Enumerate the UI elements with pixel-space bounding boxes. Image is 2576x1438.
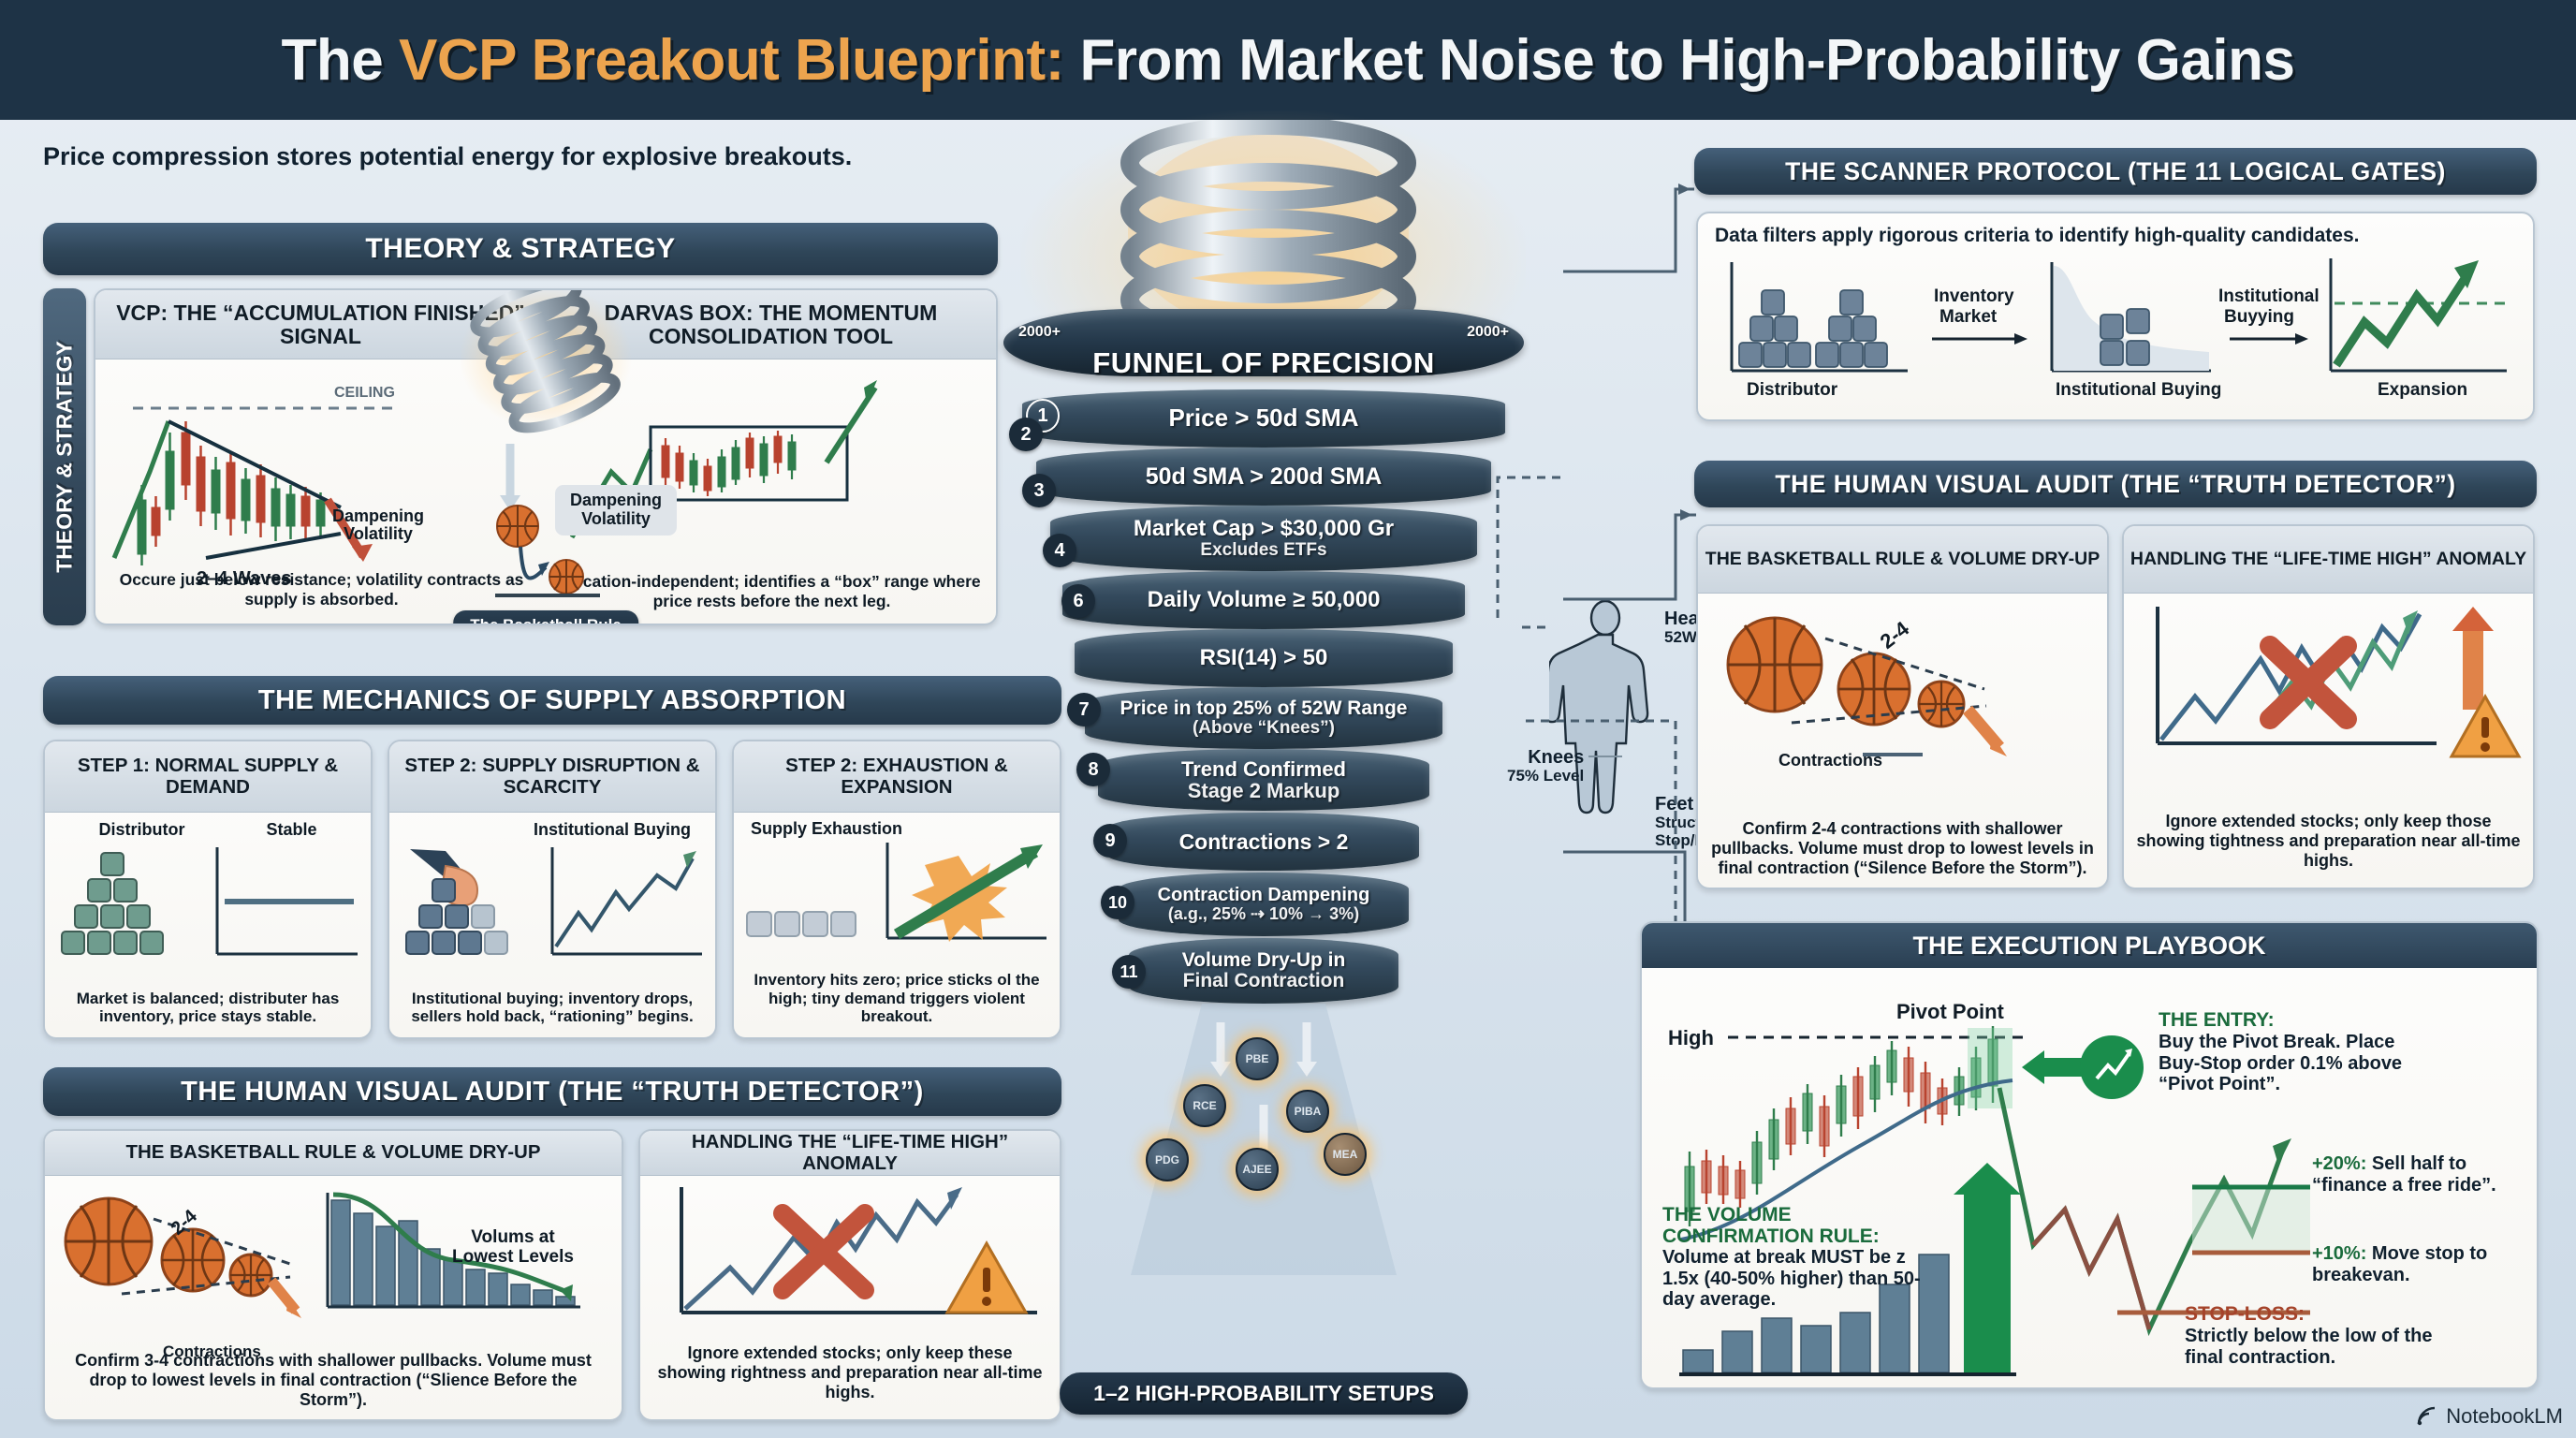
basketball-rule-pill: The Basketball Rule xyxy=(453,610,638,625)
funnel-gate-7-text: Price in top 25% of 52W Range xyxy=(1120,698,1408,719)
funnel-gate-7-number: 7 xyxy=(1067,693,1101,726)
section-bar-mechanics: THE MECHANICS OF SUPPLY ABSORPTION xyxy=(43,676,1061,725)
support-line xyxy=(206,534,341,558)
stop-loss-body: Strictly below the low of the final cont… xyxy=(2185,1326,2456,1368)
hva-right-card-anomaly: HANDLING THE “LIFE-TIME HIGH” ANOMALY Ig… xyxy=(2122,524,2535,889)
contraction-count-label-right: 2-4 xyxy=(1876,616,1914,653)
hva-left-card-basketball: THE BASKETBALL RULE & VOLUME DRY-UP 2-4 xyxy=(43,1129,623,1421)
funnel-pellet-3: PIBA xyxy=(1286,1090,1329,1133)
hva-right-row: THE BASKETBALL RULE & VOLUME DRY-UP 2-4 … xyxy=(1696,524,2535,889)
funnel-gate-3-text: Market Cap > $30,000 Gr xyxy=(1134,517,1394,540)
notebooklm-watermark: NotebookLM xyxy=(2415,1404,2563,1429)
vcp-subpanel: VCP: THE “ACCUMULATION FINISHED” SIGNAL … xyxy=(95,290,546,624)
funnel-gate-7-sub: (Above “Knees”) xyxy=(1193,719,1335,738)
funnel-gate-10-number: 10 xyxy=(1101,886,1134,919)
funnel-gate-8-text: Trend Confirmed xyxy=(1181,758,1346,780)
pre-box-leg xyxy=(572,449,651,537)
entry-body: Buy the Pivot Break. Place Buy-Stop orde… xyxy=(2159,1032,2439,1095)
contractions-label-right: Contractions xyxy=(1778,751,1882,770)
funnel-gate-9-text: Contractions > 2 xyxy=(1179,830,1349,853)
hva-right-card-1-title: THE BASKETBALL RULE & VOLUME DRY-UP xyxy=(1698,526,2107,594)
mechanics-card-1-caption: Market is balanced; distributer has inve… xyxy=(56,990,359,1026)
inventory-blocks xyxy=(62,853,163,954)
funnel-pellet-5: AJEE xyxy=(1236,1148,1279,1191)
scanner-arrow-1-label-a: Inventory xyxy=(1934,286,2014,306)
funnel-pellet-1: PBE xyxy=(1236,1037,1279,1080)
target-10-callout: +10%: Move stop to breakevan. xyxy=(2312,1243,2533,1285)
connector-to-hva xyxy=(1563,515,1696,599)
scanner-arrow-2-label-a: Institutional xyxy=(2218,286,2320,306)
volume-surge-head xyxy=(1954,1163,2021,1195)
section-bar-theory-strategy: THEORY & STRATEGY xyxy=(43,223,998,275)
funnel-gate-6-text: RSI(14) > 50 xyxy=(1200,646,1328,669)
scanner-blocks-1 xyxy=(1739,290,1887,367)
page-title: The VCP Breakout Blueprint: From Market … xyxy=(282,27,2295,94)
theory-strategy-side-label: THEORY & STRATEGY xyxy=(52,341,78,573)
hva-left-row: THE BASKETBALL RULE & VOLUME DRY-UP 2-4 xyxy=(43,1129,1061,1421)
funnel-gate-3-number: 3 xyxy=(1022,474,1056,507)
title-accent: VCP Breakout Blueprint: xyxy=(399,28,1064,93)
scanner-protocol-card: Data filters apply rigorous criteria to … xyxy=(1696,212,2535,421)
breakdown-arrow-head xyxy=(352,544,373,562)
stop-loss-callout: STOP-LOSS: Strictly below the low of the… xyxy=(2185,1303,2456,1368)
funnel-rim-label-right: 2000+ xyxy=(1467,324,1509,341)
funnel-gate-10-text: Contraction Dampening xyxy=(1158,886,1370,905)
funnel-gate-8-number: 8 xyxy=(1076,753,1110,786)
hva-left-card-1-caption: Confirm 3-4 contractions with shallower … xyxy=(56,1351,610,1410)
funnel-gate-3[interactable]: Market Cap > $30,000 Gr Excludes ETFs xyxy=(1050,506,1477,571)
target-20-callout: +20%: Sell half to “finance a free ride”… xyxy=(2312,1153,2533,1196)
connector-to-scanner xyxy=(1563,189,1694,271)
volumes-at-lowest-levels-label: Volums at Lowest Levels xyxy=(447,1228,578,1268)
human-body-figure xyxy=(1549,599,1661,871)
funnel-gate-4-text: Daily Volume ≥ 50,000 xyxy=(1148,588,1381,611)
mechanics-card-1: STEP 1: NORMAL SUPPLY & DEMAND Distribut… xyxy=(43,740,373,1039)
funnel-gate-10[interactable]: Contraction Dampening (a.g., 25% ⇢ 10% →… xyxy=(1119,873,1409,936)
funnel-title: FUNNEL OF PRECISION xyxy=(964,346,1563,380)
funnel-of-precision: 2000+ 2000+ FUNNEL OF PRECISION Price > … xyxy=(964,120,1563,1438)
execution-high-label: High xyxy=(1668,1026,1714,1049)
mechanics-card-1-title: STEP 1: NORMAL SUPPLY & DEMAND xyxy=(45,741,371,813)
scanner-arrow-1-label-b: Market xyxy=(1939,307,1998,327)
volume-rule-title: THE VOLUME CONFIRMATION RULE: xyxy=(1662,1204,1932,1247)
entry-arrow-head xyxy=(2022,1050,2044,1084)
funnel-gate-11-sub: Final Contraction xyxy=(1183,971,1345,991)
scanner-expansion-line xyxy=(2336,277,2466,365)
mechanics-card-2-caption: Institutional buying; inventory drops, s… xyxy=(401,990,704,1026)
scanner-step-label-1: Distributor xyxy=(1747,380,1838,400)
volume-rule-body: Volume at break MUST be z 1.5x (40-50% h… xyxy=(1662,1247,1932,1311)
warning-exclam-bar-right xyxy=(2481,717,2489,738)
funnel-gate-9-number: 9 xyxy=(1093,824,1127,858)
entry-title: THE ENTRY: xyxy=(2159,1009,2439,1032)
institutional-buying-label: Institutional Buying xyxy=(534,820,691,839)
mechanics-chart-1 xyxy=(49,842,367,960)
scanner-step-label-2: Institutional Buying xyxy=(2056,380,2221,400)
scanner-step-label-3: Expansion xyxy=(2378,380,2467,400)
vcp-subpanel-title: VCP: THE “ACCUMULATION FINISHED” SIGNAL xyxy=(95,290,546,359)
funnel-gate-4-number: 4 xyxy=(1043,534,1076,567)
supply-exhaustion-label: Supply Exhaustion xyxy=(751,820,902,838)
mechanics-chart-2 xyxy=(393,842,711,960)
scanner-arrow-2-label-b: Buyying xyxy=(2224,307,2294,327)
breakout-highlight xyxy=(1968,1028,2012,1108)
funnel-pellet-2: RCE xyxy=(1183,1084,1226,1127)
target-10-key: +10%: xyxy=(2312,1243,2366,1264)
scanner-arrow-1-head xyxy=(2014,333,2027,345)
scanner-arrow-2-head xyxy=(2295,333,2308,345)
execution-pivot-label: Pivot Point xyxy=(1896,1000,2005,1023)
mechanics-card-2: STEP 2: SUPPLY DISRUPTION & SCARCITY Ins… xyxy=(388,740,717,1039)
funnel-pellet-6: MEA xyxy=(1324,1133,1367,1176)
hva-right-card-2-title: HANDLING THE “LIFE-TIME HIGH” ANOMALY xyxy=(2124,526,2533,594)
notebooklm-label: NotebookLM xyxy=(2446,1404,2563,1429)
funnel-gate-8-sub: Stage 2 Markup xyxy=(1188,780,1340,801)
notebooklm-icon xyxy=(2415,1404,2439,1429)
funnel-rim-label-left: 2000+ xyxy=(1018,324,1061,341)
downtrend-line xyxy=(168,421,341,507)
theory-strategy-section: THEORY & STRATEGY VCP: THE “ACCUMULATION… xyxy=(43,288,998,625)
title-part2: From Market Noise to High-Probability Ga… xyxy=(1064,28,2295,93)
volume-rule-callout: THE VOLUME CONFIRMATION RULE: Volume at … xyxy=(1662,1204,1932,1311)
section-bar-hva-left: THE HUMAN VISUAL AUDIT (THE “TRUTH DETEC… xyxy=(43,1067,1061,1116)
funnel-gate-1[interactable]: Price > 50d SMA xyxy=(1022,389,1505,448)
up-arrow-bar xyxy=(2463,629,2483,710)
funnel-gate-11[interactable]: Volume Dry-Up in Final Contraction xyxy=(1129,938,1398,1004)
basketball-chart-right: 2-4 xyxy=(1698,599,2109,758)
funnel-gate-11-number: 11 xyxy=(1112,955,1146,989)
execution-playbook-card: THE EXECUTION PLAYBOOK High Pivot Point xyxy=(1640,921,2539,1389)
funnel-gate-6-number: 6 xyxy=(1061,584,1095,618)
execution-candles xyxy=(1685,1026,1998,1226)
body-silhouette-icon xyxy=(1549,599,1661,871)
funnel-pellet-4: PDG xyxy=(1146,1138,1189,1181)
funnel-gate-1-text: Price > 50d SMA xyxy=(1168,405,1358,432)
theory-strategy-card: VCP: THE “ACCUMULATION FINISHED” SIGNAL … xyxy=(94,288,998,625)
trade-path-arrow-head xyxy=(2273,1138,2291,1165)
body-head xyxy=(1591,601,1619,635)
anomaly-chart-right xyxy=(2128,601,2530,766)
funnel-gate-2[interactable]: 50d SMA > 200d SMA xyxy=(1036,448,1491,506)
high-probability-setups-pill: 1–2 HIGH-PROBABILITY SETUPS xyxy=(1060,1372,1468,1415)
body-label-knees: Knees 75% Level xyxy=(1507,747,1584,785)
connector-arrow-hva xyxy=(1680,509,1692,521)
rising-price-line xyxy=(556,858,693,946)
section-bar-hva-right: THE HUMAN VISUAL AUDIT (THE “TRUTH DETEC… xyxy=(1694,461,2537,507)
ceiling-label: CEILING xyxy=(334,385,395,401)
body-knees-title: Knees xyxy=(1507,747,1584,768)
mechanics-card-2-title: STEP 2: SUPPLY DISRUPTION & SCARCITY xyxy=(389,741,715,813)
target-20-key: +20%: xyxy=(2312,1153,2366,1174)
profit-zone-band xyxy=(2192,1187,2310,1253)
hva-right-card-1-caption: Confirm 2-4 contractions with shallower … xyxy=(1709,819,2096,878)
empty-inventory-blocks xyxy=(747,912,856,936)
darvas-caption: Location-independent; identifies a “box”… xyxy=(559,572,985,610)
warning-exclam-dot-right xyxy=(2481,742,2490,752)
box-candles xyxy=(662,431,796,496)
funnel-gate-2-number: 2 xyxy=(1009,418,1043,451)
up-arrow-head xyxy=(2452,607,2494,631)
hva-right-card-basketball: THE BASKETBALL RULE & VOLUME DRY-UP 2-4 … xyxy=(1696,524,2109,889)
section-bar-scanner-protocol: THE SCANNER PROTOCOL (THE 11 LOGICAL GAT… xyxy=(1694,148,2537,195)
funnel-gate-4[interactable]: Daily Volume ≥ 50,000 xyxy=(1062,571,1465,629)
mechanics-row: STEP 1: NORMAL SUPPLY & DEMAND Distribut… xyxy=(43,740,1061,1039)
candles xyxy=(138,421,325,565)
stable-label: Stable xyxy=(266,820,316,840)
title-part1: The xyxy=(282,28,399,93)
body-torso-limbs xyxy=(1549,635,1647,813)
hva-right-card-2-caption: Ignore extended stocks; only keep those … xyxy=(2135,812,2522,871)
darvas-subpanel-title: DARVAS BOX: THE MOMENTUM CONSOLIDATION T… xyxy=(546,290,996,359)
funnel-gate-6[interactable]: RSI(14) > 50 xyxy=(1075,629,1453,687)
volume-surge-bar xyxy=(1964,1189,2011,1372)
funnel-gate-7[interactable]: Price in top 25% of 52W Range (Above “Kn… xyxy=(1085,687,1442,749)
funnel-gate-9[interactable]: Contractions > 2 xyxy=(1108,813,1419,871)
subtitle: Price compression stores potential energ… xyxy=(43,142,852,171)
hva-left-card-1-title: THE BASKETBALL RULE & VOLUME DRY-UP xyxy=(45,1131,622,1176)
funnel-gate-11-text: Volume Dry-Up in xyxy=(1182,950,1346,971)
funnel-gate-10-sub: (a.g., 25% ⇢ 10% → 3%) xyxy=(1168,905,1359,923)
theory-strategy-side-tab: THEORY & STRATEGY xyxy=(43,288,86,625)
page-header: The VCP Breakout Blueprint: From Market … xyxy=(0,0,2576,120)
funnel-gate-8[interactable]: Trend Confirmed Stage 2 Markup xyxy=(1098,749,1429,811)
scanner-lead-text: Data filters apply rigorous criteria to … xyxy=(1698,213,2533,251)
connector-arrow-scanner xyxy=(1678,183,1690,195)
vcp-caption: Occure just below resistance; volatility… xyxy=(109,570,534,609)
entry-callout: THE ENTRY: Buy the Pivot Break. Place Bu… xyxy=(2159,1009,2439,1095)
distributor-label: Distributor xyxy=(98,820,184,840)
stop-loss-title: STOP-LOSS: xyxy=(2185,1303,2456,1326)
scanner-diagram: Distributor Inventory Market Institution… xyxy=(1698,253,2522,406)
execution-playbook-title: THE EXECUTION PLAYBOOK xyxy=(1642,923,2537,968)
funnel-gate-3-sub: Excludes ETFs xyxy=(1200,541,1326,560)
funnel-gate-2-text: 50d SMA > 200d SMA xyxy=(1146,464,1383,490)
darvas-subpanel: DARVAS BOX: THE MOMENTUM CONSOLIDATION T… xyxy=(546,290,996,624)
darvas-chart xyxy=(546,359,998,556)
reject-x-icon xyxy=(783,1213,865,1290)
body-knees-sub: 75% Level xyxy=(1507,767,1584,785)
